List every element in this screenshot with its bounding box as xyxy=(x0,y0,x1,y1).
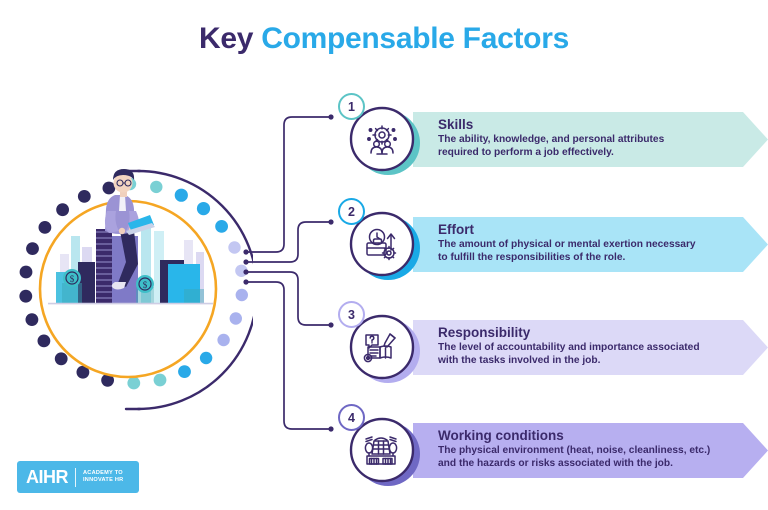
banner-text-responsibility: Responsibility The level of accountabili… xyxy=(438,325,738,367)
factor-desc-line1: The amount of physical or mental exertio… xyxy=(438,239,738,252)
logo-divider xyxy=(75,468,76,487)
banner-text-skills: Skills The ability, knowledge, and perso… xyxy=(438,117,738,159)
factor-title: Responsibility xyxy=(438,325,738,341)
number-badge-label: 2 xyxy=(348,205,355,219)
illustration-svg: $ $ xyxy=(8,165,253,415)
logo-tagline: ACADEMY TO INNOVATE HR xyxy=(83,470,123,485)
page-title-part1: Key xyxy=(199,22,253,55)
factor-desc-line2: with the tasks involved in the job. xyxy=(438,355,738,368)
number-badge-label: 1 xyxy=(348,100,355,114)
svg-text:$: $ xyxy=(70,274,75,284)
factor-desc-line1: The physical environment (heat, noise, c… xyxy=(438,445,738,458)
connector-svg xyxy=(240,85,350,445)
number-badge-4: 4 xyxy=(338,404,365,431)
factor-title: Working conditions xyxy=(438,428,738,444)
logo-tagline-line1: ACADEMY TO xyxy=(83,470,123,477)
coin-stack-right: $ xyxy=(136,275,154,303)
svg-text:$: $ xyxy=(143,280,148,290)
factor-desc-line2: and the hazards or risks associated with… xyxy=(438,458,738,471)
banner-text-working-conditions: Working conditions The physical environm… xyxy=(438,428,738,470)
page-title-part2: Compensable Factors xyxy=(261,22,569,55)
page-title: Key Compensable Factors xyxy=(0,22,768,56)
connector-lines xyxy=(240,85,350,450)
number-badge-label: 3 xyxy=(348,308,355,322)
factor-desc-line1: The ability, knowledge, and personal att… xyxy=(438,134,738,147)
factor-desc-line1: The level of accountability and importan… xyxy=(438,342,738,355)
number-badge-label: 4 xyxy=(348,411,355,425)
factor-desc-line2: required to perform a job effectively. xyxy=(438,147,738,160)
coin-stack-far-right xyxy=(184,289,204,303)
coin-stack-left: $ xyxy=(62,269,82,303)
factor-title: Effort xyxy=(438,222,738,238)
number-badge-3: 3 xyxy=(338,301,365,328)
number-badge-2: 2 xyxy=(338,198,365,225)
banner-text-effort: Effort The amount of physical or mental … xyxy=(438,222,738,264)
factor-desc-line2: to fulfill the responsibilities of the r… xyxy=(438,252,738,265)
central-illustration: $ $ xyxy=(8,165,253,415)
aihr-logo[interactable]: AIHR ACADEMY TO INNOVATE HR xyxy=(17,461,139,493)
logo-wordmark: AIHR xyxy=(17,467,68,488)
factor-title: Skills xyxy=(438,117,738,133)
logo-tagline-line2: INNOVATE HR xyxy=(83,477,123,484)
number-badge-1: 1 xyxy=(338,93,365,120)
